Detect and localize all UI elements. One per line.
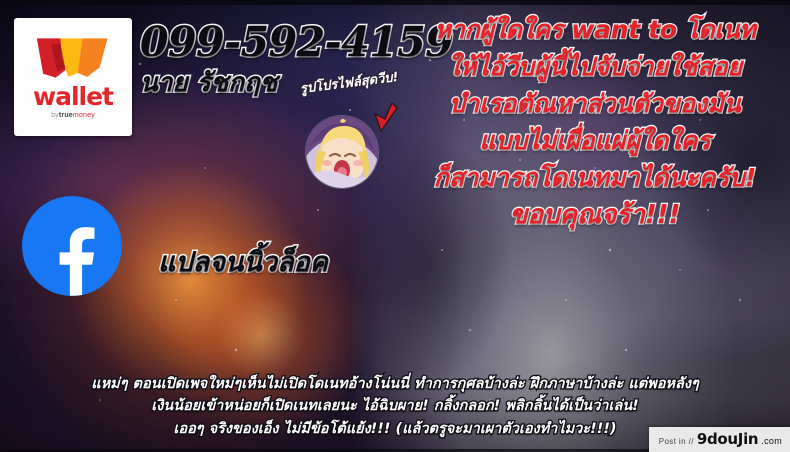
red-line-1: หากผู้ใดใคร want to โดเนท xyxy=(404,16,786,43)
donation-red-message: หากผู้ใดใคร want to โดเนท ให้ไอ้วีบผู้นี… xyxy=(404,16,786,229)
wallet-w-mark-icon xyxy=(33,36,113,80)
site-watermark: Post in // 9douJin .com xyxy=(649,427,790,452)
truemoney-wallet-logo-card: wallet bytruemoney xyxy=(14,18,132,136)
bottom-line-2: เงินน้อยเข้าหน่อยก็เปิดเนทเลยนะ ไอ้ฉิบผา… xyxy=(0,395,790,417)
facebook-caption: แปลจนนิ้วล็อค xyxy=(158,240,328,283)
bottom-line-1: แหม่ๆ ตอนเปิดเพจใหม่ๆเห็นไม่เปิดโดเนทอ้า… xyxy=(0,373,790,395)
donation-banner: wallet bytruemoney 099-592-4159 นาย รัชก… xyxy=(0,0,790,452)
truemoney-by: by xyxy=(51,112,59,119)
watermark-site-name: 9douJin xyxy=(697,430,758,448)
anime-girl-avatar-icon xyxy=(306,116,378,188)
top-edge-bar xyxy=(0,0,790,5)
red-line-4: แบบไม่เผื่อแผ่ผู้ใดใคร xyxy=(404,127,786,154)
watermark-tld: .com xyxy=(761,436,782,446)
watermark-prefix: Post in // xyxy=(659,437,694,446)
red-line-2: ให้ไอ้วีบผู้นี้ไปจับจ่ายใช้สอย xyxy=(404,53,786,80)
account-holder-name: นาย รัชกฤช xyxy=(140,62,277,103)
truemoney-subtitle: bytruemoney xyxy=(51,112,95,119)
red-down-arrow-icon xyxy=(372,102,398,134)
truemoney-money: money xyxy=(73,112,95,119)
red-line-5: ก็สามารถโดเนทมาได้นะครับ! xyxy=(404,164,786,191)
red-line-6: ขอบคุณจร้า!!! xyxy=(404,201,786,229)
red-line-3: บำเรอตัณหาส่วนตัวของมัน xyxy=(404,90,786,117)
facebook-f-icon[interactable] xyxy=(22,196,122,296)
wallet-wordmark: wallet xyxy=(33,84,113,109)
truemoney-true: true xyxy=(59,112,73,119)
